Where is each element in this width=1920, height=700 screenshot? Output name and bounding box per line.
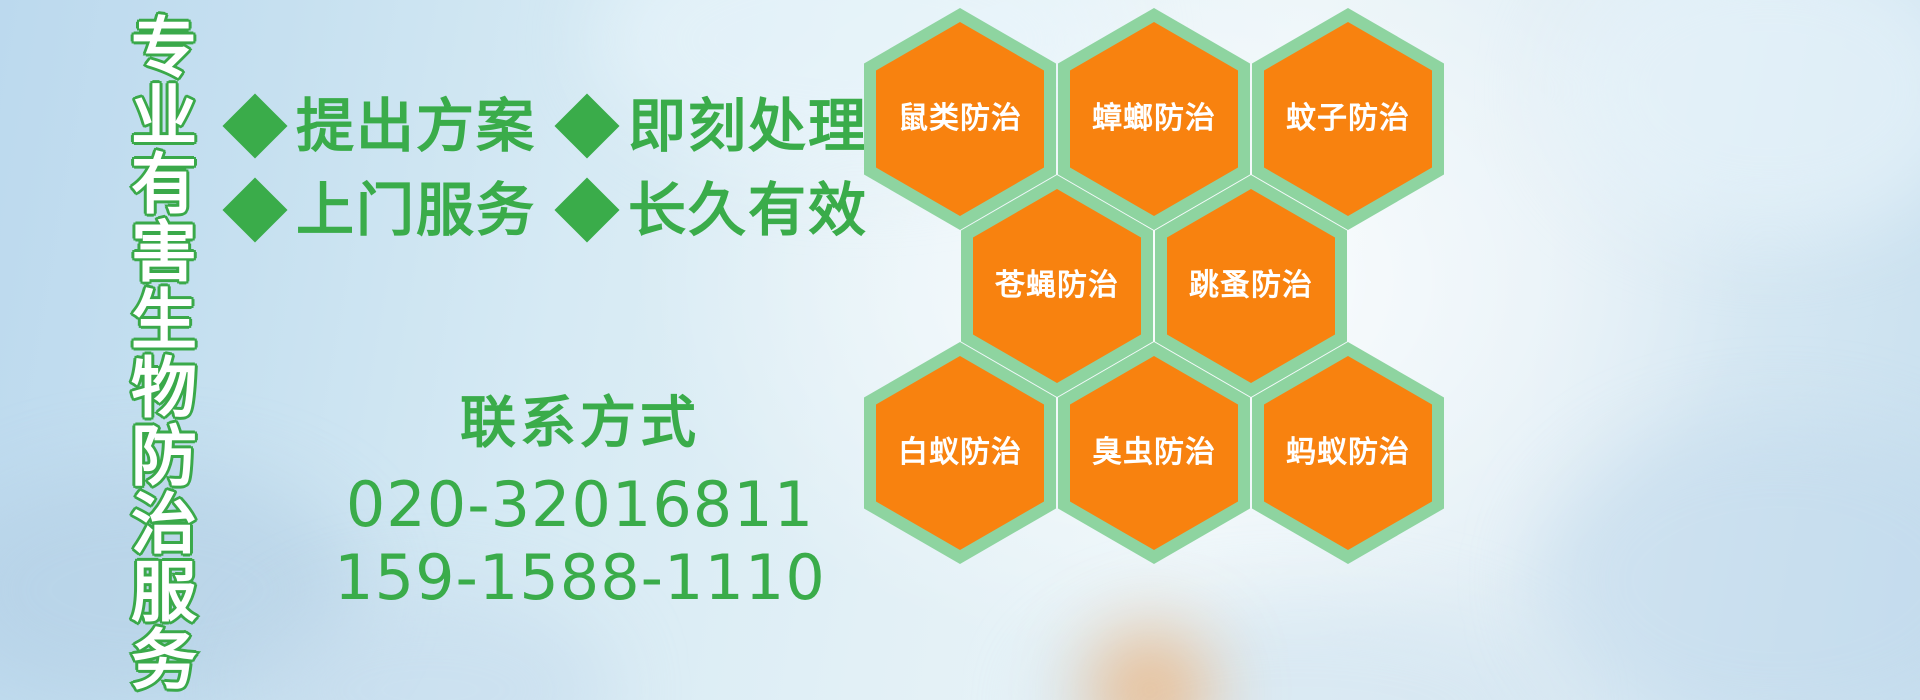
hex-inner: 鼠类防治 bbox=[876, 22, 1044, 216]
feature-label: 提出方案 bbox=[296, 97, 536, 155]
diamond-bullet-icon bbox=[222, 177, 287, 242]
diamond-bullet-icon bbox=[554, 177, 619, 242]
vertical-headline-char: 专 bbox=[131, 16, 197, 82]
pest-control-banner: 专 业 有 害 生 物 防 治 服 务 提出方案 即刻处理 上门服务 bbox=[0, 0, 1920, 700]
contact-block: 联系方式 020-32016811 159-1588-1110 bbox=[300, 395, 860, 614]
vertical-headline-char: 有 bbox=[131, 152, 197, 218]
hex-inner: 苍蝇防治 bbox=[973, 189, 1141, 383]
feature-list: 提出方案 即刻处理 上门服务 长久有效 bbox=[232, 84, 872, 252]
hex-inner: 蚊子防治 bbox=[1264, 22, 1432, 216]
vertical-headline-char: 生 bbox=[131, 288, 197, 354]
diamond-bullet-icon bbox=[222, 93, 287, 158]
service-hex-grid: 鼠类防治 蟑螂防治 蚊子防治 苍蝇防治 跳蚤防治 白蚁防治 bbox=[862, 0, 1462, 560]
vertical-headline-char: 防 bbox=[131, 424, 197, 490]
background-blur-blob bbox=[1040, 600, 1560, 700]
feature-label: 即刻处理 bbox=[628, 97, 868, 155]
hex-inner: 蟑螂防治 bbox=[1070, 22, 1238, 216]
feature-label: 长久有效 bbox=[628, 181, 868, 239]
hex-inner: 蚂蚁防治 bbox=[1264, 356, 1432, 550]
contact-phone-mobile[interactable]: 159-1588-1110 bbox=[300, 541, 860, 614]
feature-row: 提出方案 即刻处理 bbox=[232, 84, 872, 168]
service-label: 跳蚤防治 bbox=[1189, 271, 1313, 301]
service-label: 苍蝇防治 bbox=[995, 271, 1119, 301]
service-label: 蚂蚁防治 bbox=[1286, 438, 1410, 468]
service-label: 臭虫防治 bbox=[1092, 438, 1216, 468]
feature-item: 上门服务 bbox=[232, 181, 536, 239]
background-blur-blob bbox=[1540, 420, 1920, 700]
feature-label: 上门服务 bbox=[296, 181, 536, 239]
feature-item: 提出方案 bbox=[232, 97, 536, 155]
contact-title: 联系方式 bbox=[300, 395, 860, 454]
vertical-headline-char: 业 bbox=[131, 84, 197, 150]
vertical-headline: 专 业 有 害 生 物 防 治 服 务 bbox=[112, 16, 216, 688]
contact-phone-landline[interactable]: 020-32016811 bbox=[300, 468, 860, 541]
vertical-headline-char: 治 bbox=[131, 492, 197, 558]
vertical-headline-char: 物 bbox=[131, 356, 197, 422]
hex-inner: 臭虫防治 bbox=[1070, 356, 1238, 550]
background-blur-accent-blob bbox=[1090, 630, 1210, 700]
vertical-headline-char: 害 bbox=[131, 220, 197, 286]
feature-item: 长久有效 bbox=[564, 181, 868, 239]
vertical-headline-char: 务 bbox=[131, 628, 197, 694]
diamond-bullet-icon bbox=[554, 93, 619, 158]
service-label: 蟑螂防治 bbox=[1092, 104, 1216, 134]
hex-inner: 跳蚤防治 bbox=[1167, 189, 1335, 383]
service-label: 蚊子防治 bbox=[1286, 104, 1410, 134]
service-label: 白蚁防治 bbox=[898, 438, 1022, 468]
background-blur-blob bbox=[1560, 0, 1920, 240]
hex-inner: 白蚁防治 bbox=[876, 356, 1044, 550]
feature-item: 即刻处理 bbox=[564, 97, 868, 155]
feature-row: 上门服务 长久有效 bbox=[232, 168, 872, 252]
service-label: 鼠类防治 bbox=[898, 104, 1022, 134]
vertical-headline-char: 服 bbox=[131, 560, 197, 626]
